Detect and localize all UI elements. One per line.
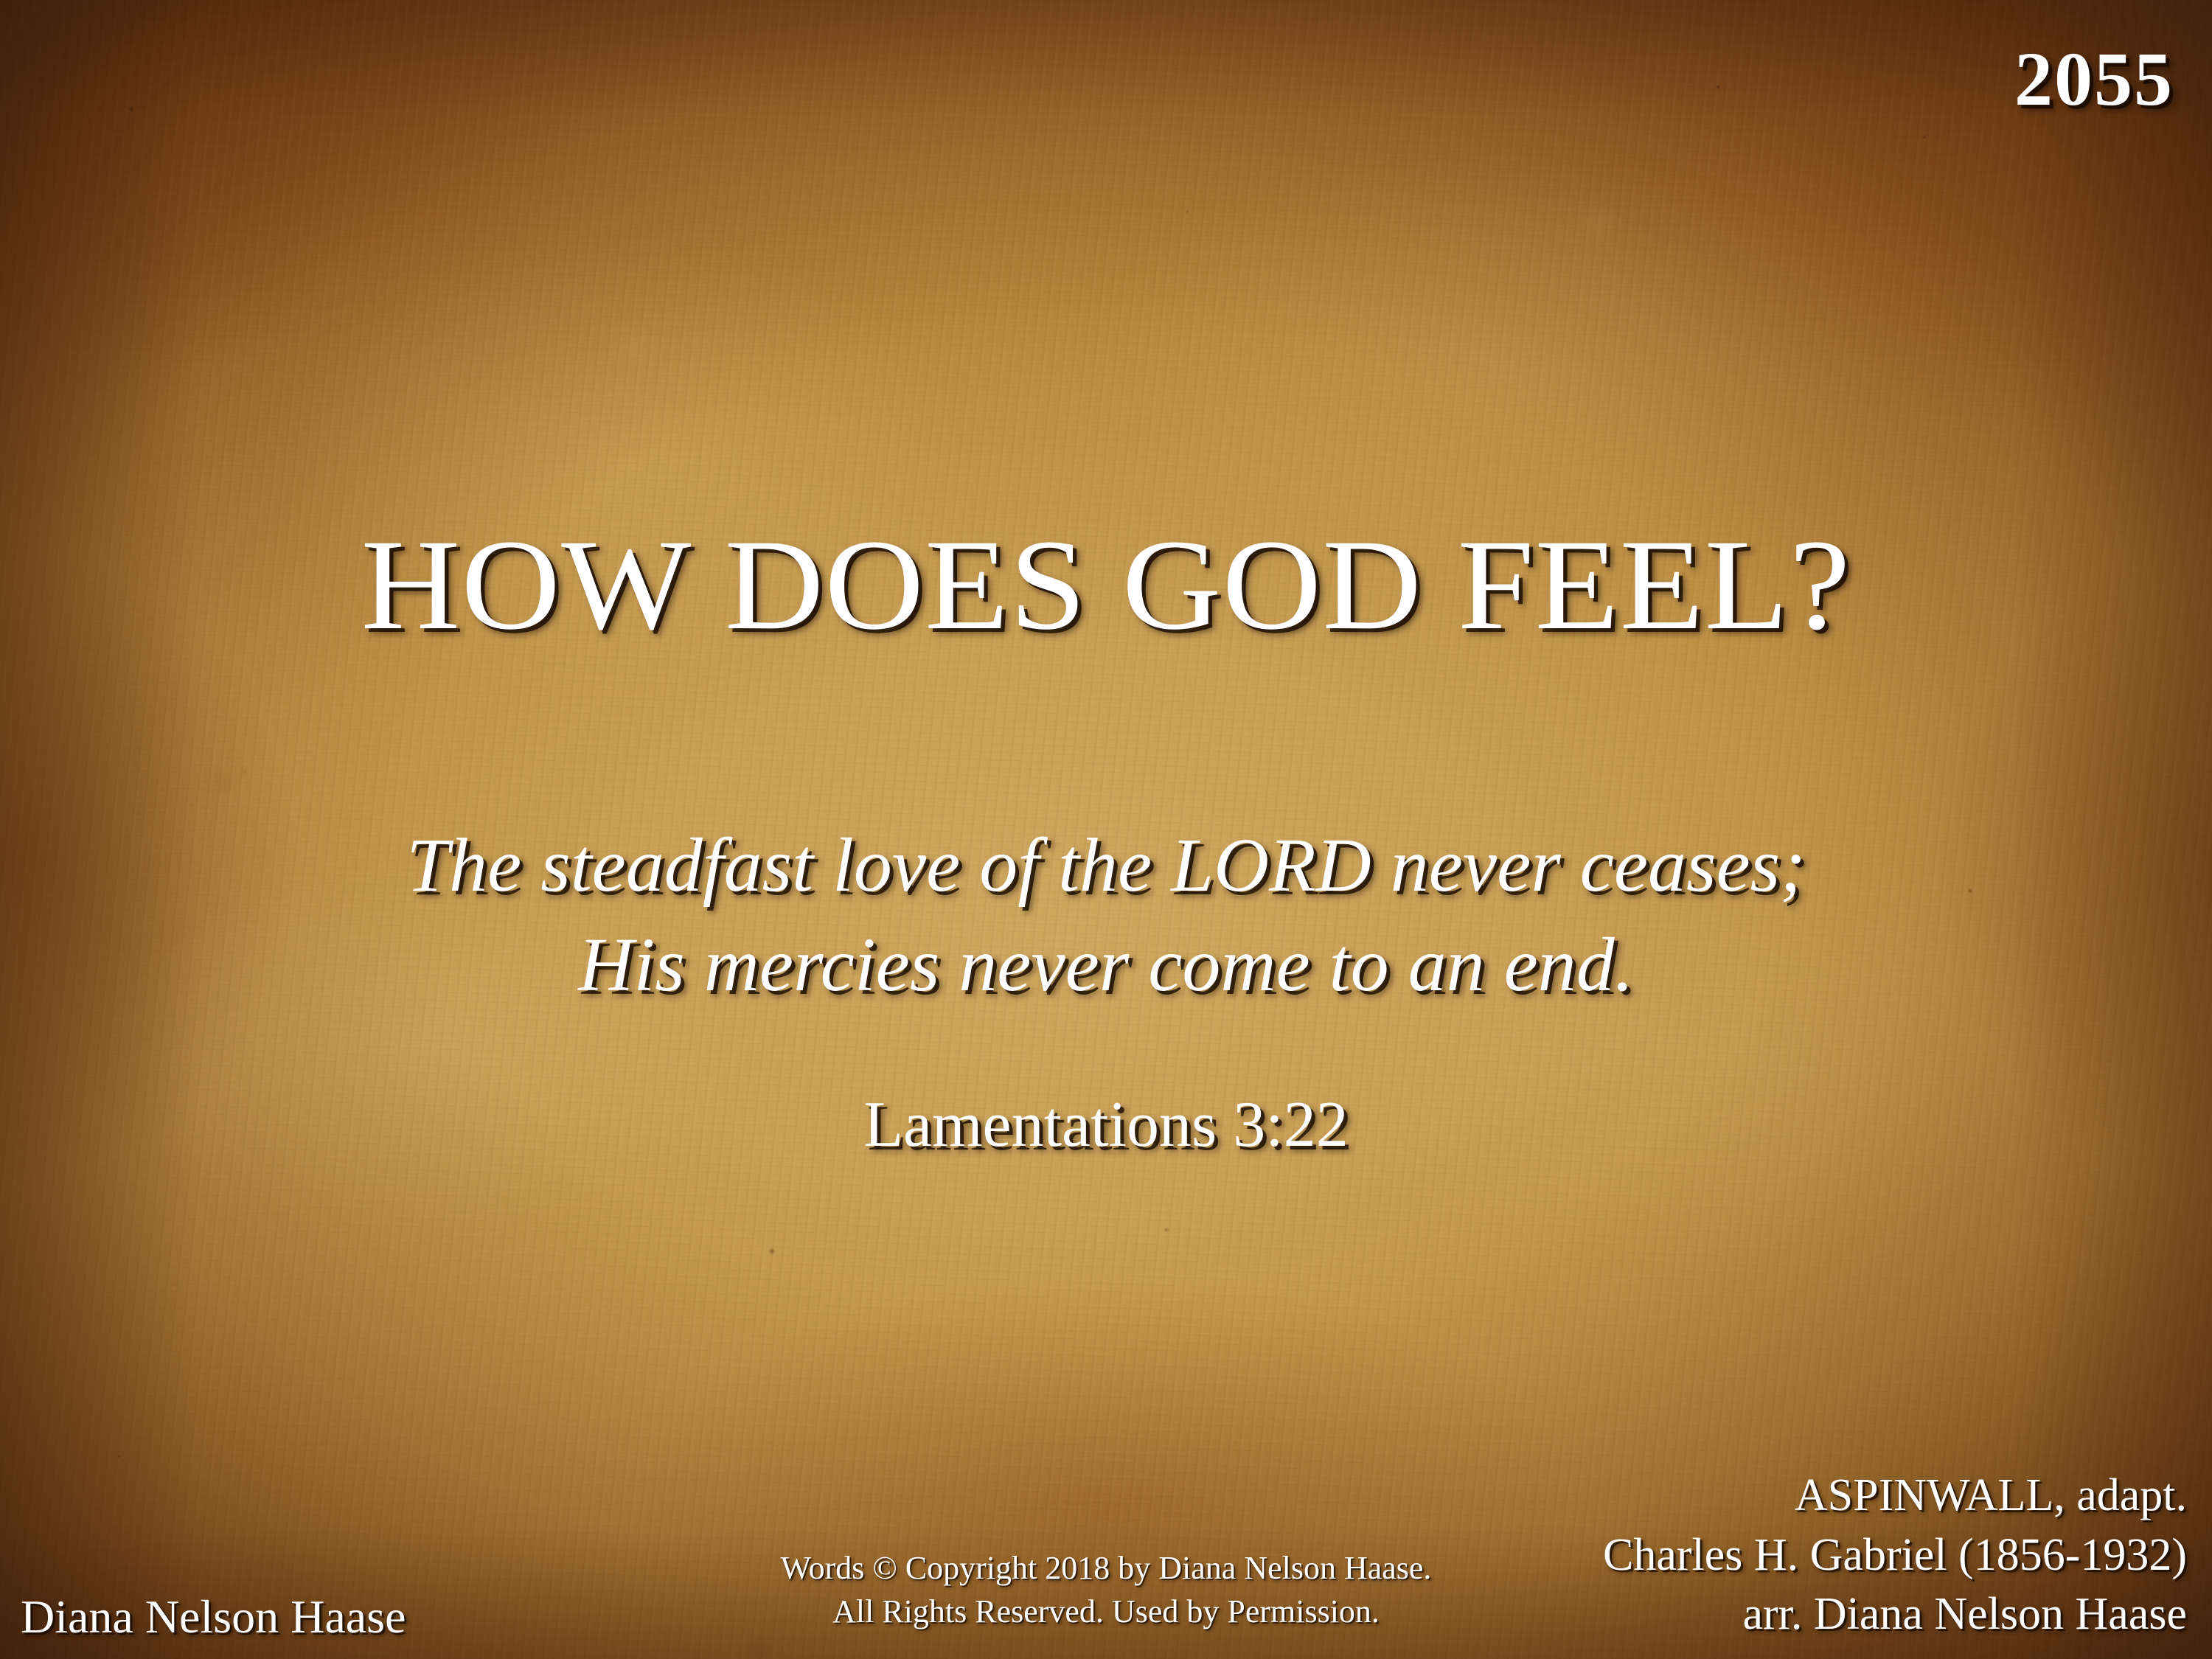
page-title: HOW DOES GOD FEEL? bbox=[0, 518, 2212, 654]
attribution-arranger: arr. Diana Nelson Haase bbox=[1603, 1585, 2187, 1644]
copyright-line-2: All Rights Reserved. Used by Permission. bbox=[781, 1590, 1432, 1634]
music-attribution: ASPINWALL, adapt. Charles H. Gabriel (18… bbox=[1603, 1466, 2187, 1644]
hymn-number: 2055 bbox=[2014, 41, 2174, 118]
presenter-name: Diana Nelson Haase bbox=[21, 1591, 406, 1643]
scripture-line-1: The steadfast love of the LORD never cea… bbox=[0, 815, 2212, 915]
scripture-verse: The steadfast love of the LORD never cea… bbox=[0, 815, 2212, 1015]
hymn-slide: 2055 HOW DOES GOD FEEL? The steadfast lo… bbox=[0, 0, 2212, 1659]
scripture-reference: Lamentations 3:22 bbox=[0, 1090, 2212, 1161]
attribution-composer: Charles H. Gabriel (1856-1932) bbox=[1603, 1526, 2187, 1585]
copyright-notice: Words © Copyright 2018 by Diana Nelson H… bbox=[781, 1547, 1432, 1634]
attribution-tune: ASPINWALL, adapt. bbox=[1603, 1466, 2187, 1526]
scripture-line-2: His mercies never come to an end. bbox=[0, 915, 2212, 1015]
copyright-line-1: Words © Copyright 2018 by Diana Nelson H… bbox=[781, 1547, 1432, 1590]
slide-content: 2055 HOW DOES GOD FEEL? The steadfast lo… bbox=[0, 0, 2212, 1659]
